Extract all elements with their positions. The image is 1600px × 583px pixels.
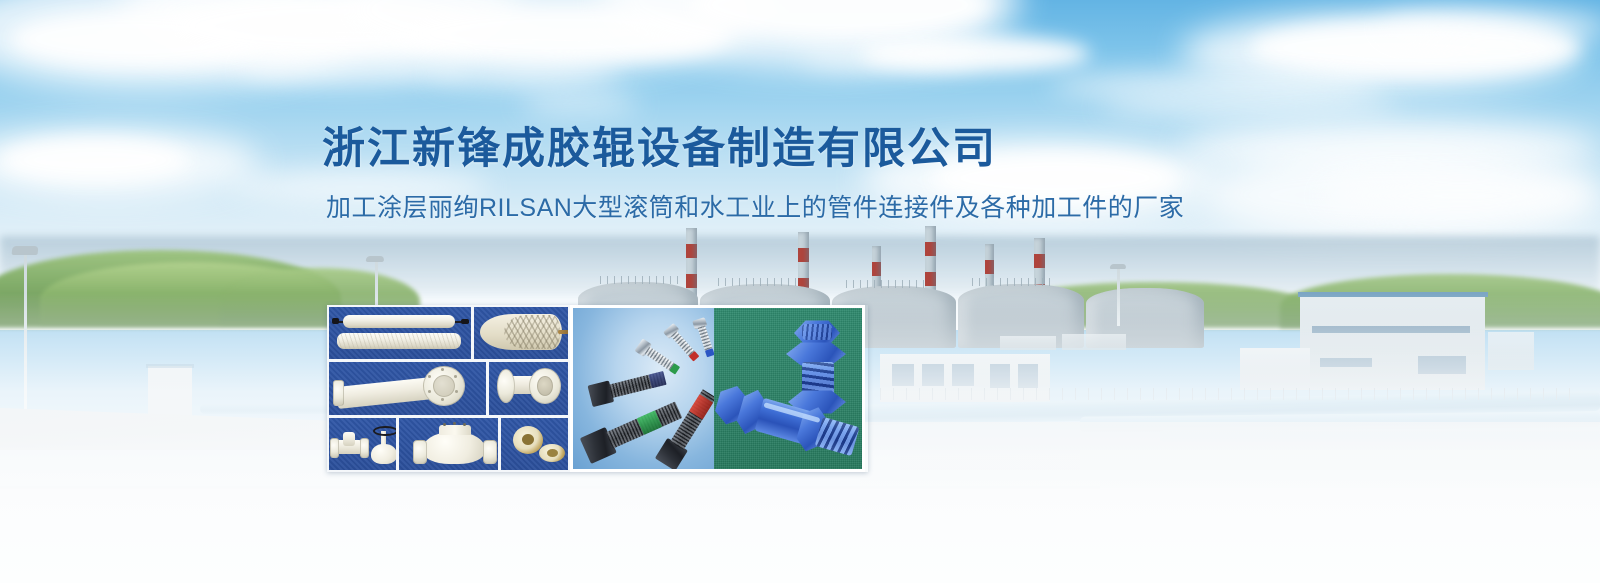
fitting-flange (497, 369, 515, 403)
building-roofline (1298, 292, 1488, 297)
pipe-flange (333, 380, 344, 406)
company-title: 浙江新锋成胶辊设备制造有限公司 (322, 125, 1322, 173)
bolt-thread (815, 417, 860, 456)
product-cell-gaskets[interactable] (501, 418, 568, 470)
collage-row (329, 307, 568, 359)
tank-railing (600, 276, 680, 284)
window-strip (892, 364, 914, 386)
product-cell-brush-roller[interactable] (474, 307, 568, 359)
tank-railing (846, 280, 926, 288)
product-cell-flanged-fitting[interactable] (489, 362, 568, 414)
white-coated-roller (343, 315, 455, 328)
window-strip (1418, 356, 1466, 374)
collage-panel-pipes-valves[interactable] (327, 305, 570, 472)
roller-end-cap (332, 318, 339, 324)
annex-building (1240, 348, 1310, 390)
basin-edge-line (0, 486, 1100, 489)
bolt-tip-marking (705, 348, 714, 357)
annex-building (1488, 332, 1534, 370)
tee-flange (330, 438, 339, 458)
check-valve-bonnet (439, 425, 471, 435)
product-cell-tee-gate-valve[interactable] (329, 418, 396, 470)
product-collage[interactable] (327, 305, 868, 472)
bolt-thread (802, 324, 832, 340)
product-cell-check-valve[interactable] (399, 418, 499, 470)
roller-end-cap (461, 319, 469, 324)
far-building (1062, 334, 1126, 350)
collage-panel-coated-bolts[interactable] (570, 305, 714, 472)
gasket-bore (547, 449, 558, 457)
window-strip (1018, 364, 1038, 388)
product-cell-roller[interactable] (329, 307, 471, 359)
tank-railing (972, 278, 1054, 286)
flanged-pipe-elbow (336, 377, 434, 409)
cloud (520, 95, 640, 113)
roofline (146, 364, 194, 368)
foreground-basin (0, 488, 1600, 583)
collage-row (329, 418, 568, 470)
window-strip (952, 364, 974, 386)
gasket-bore (522, 434, 534, 445)
tee-flange (360, 438, 369, 458)
light-pole (24, 252, 27, 412)
window-strip (1320, 358, 1372, 367)
far-building (1000, 336, 1056, 350)
check-valve-flange (483, 440, 497, 464)
treatment-building (1300, 294, 1485, 390)
check-valve-flange (413, 440, 427, 464)
light-pole (1117, 266, 1120, 326)
pipe-railing (880, 388, 1580, 400)
bonnet-bolt (443, 423, 446, 426)
collage-row (329, 362, 568, 414)
light-pole-head (366, 256, 385, 262)
hero-banner: 浙江新锋成胶辊设备制造有限公司 加工涂层丽绚RILSAN大型滚筒和水工业上的管件… (0, 0, 1600, 583)
roller-spiral-texture (337, 333, 461, 349)
check-valve-body (423, 432, 485, 464)
tee-branch (343, 432, 355, 446)
window-strip (1312, 326, 1470, 333)
product-cell-flanged-elbow[interactable] (329, 362, 486, 414)
cloud (0, 138, 190, 182)
brush-roller-shaft (558, 330, 568, 334)
window-strip (922, 364, 944, 386)
cloud (1380, 8, 1600, 44)
bonnet-bolt (453, 422, 456, 425)
cloud (430, 62, 620, 86)
window-strip (990, 364, 1010, 388)
light-pole-head (12, 246, 39, 255)
light-pole-head (1110, 264, 1127, 269)
tank-railing (718, 278, 802, 286)
brush-roller-texture (504, 315, 560, 349)
headline-block: 浙江新锋成胶辊设备制造有限公司 加工涂层丽绚RILSAN大型滚筒和水工业上的管件… (322, 125, 1322, 223)
collage-panel-blue-bolts[interactable] (714, 305, 865, 472)
cloud (800, 48, 980, 72)
bolt-tip-marking (649, 371, 667, 388)
gate-valve-body (371, 444, 396, 464)
cloud (1320, 176, 1600, 216)
bonnet-bolt (463, 423, 466, 426)
company-tagline: 加工涂层丽绚RILSAN大型滚筒和水工业上的管件连接件及各种加工件的厂家 (326, 193, 1322, 223)
cloud (1100, 96, 1400, 118)
gate-valve-handwheel (373, 426, 396, 436)
